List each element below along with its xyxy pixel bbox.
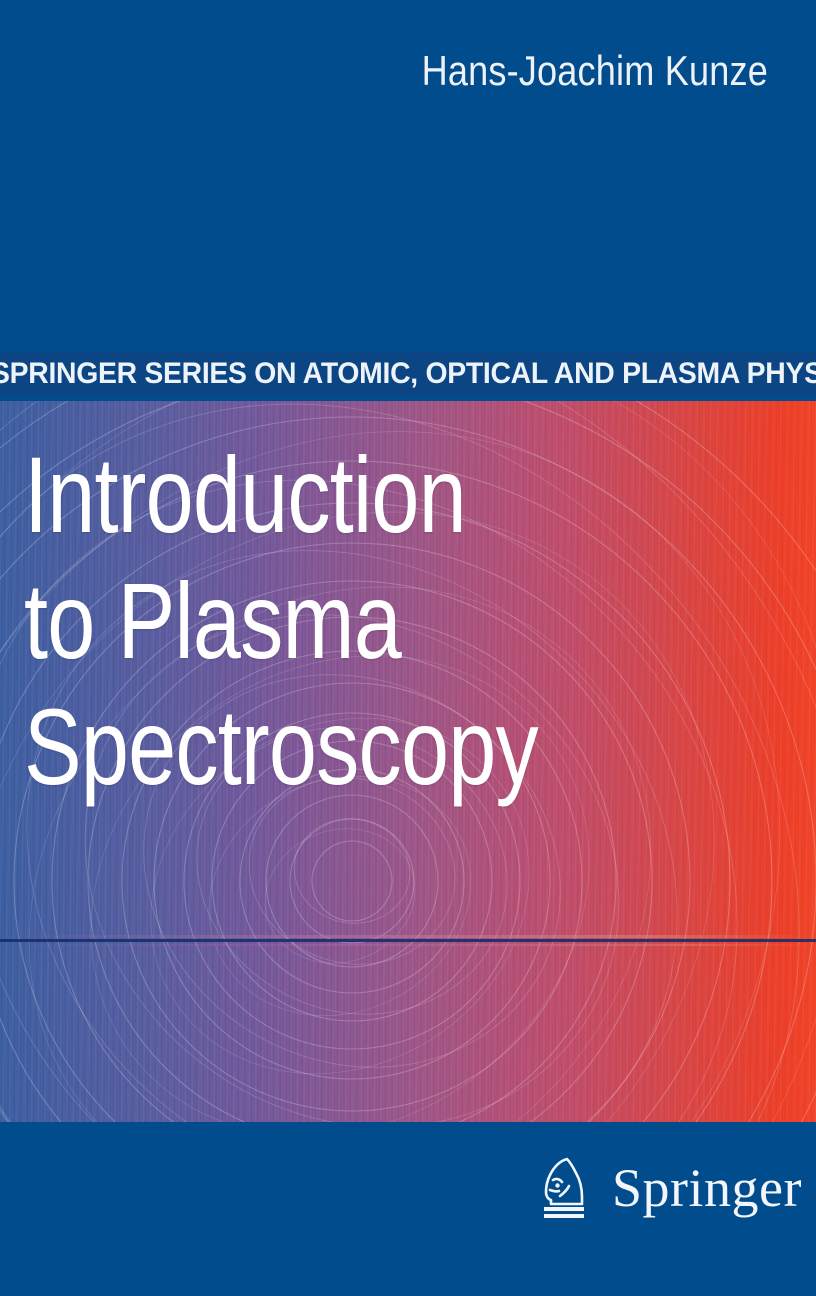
title-line-2: to Plasma — [24, 558, 584, 684]
title-line-3: Spectroscopy — [24, 684, 584, 810]
book-cover: Hans-Joachim Kunze SPRINGER SERIES ON AT… — [0, 0, 816, 1296]
series-band: SPRINGER SERIES ON ATOMIC, OPTICAL AND P… — [0, 352, 816, 396]
rule-highlight-lower — [0, 944, 816, 946]
horizontal-rule — [0, 939, 816, 942]
publisher-logo: Springer — [536, 1152, 802, 1224]
author-name: Hans-Joachim Kunze — [280, 50, 768, 92]
rule-highlight-upper — [0, 935, 816, 938]
title-line-1: Introduction — [24, 432, 584, 558]
springer-knight-icon — [536, 1152, 598, 1224]
publisher-name: Springer — [612, 1161, 802, 1215]
book-title: Introduction to Plasma Spectroscopy — [24, 432, 724, 810]
series-title: SPRINGER SERIES ON ATOMIC, OPTICAL AND P… — [0, 357, 816, 391]
series-band-inner: SPRINGER SERIES ON ATOMIC, OPTICAL AND P… — [0, 352, 816, 396]
